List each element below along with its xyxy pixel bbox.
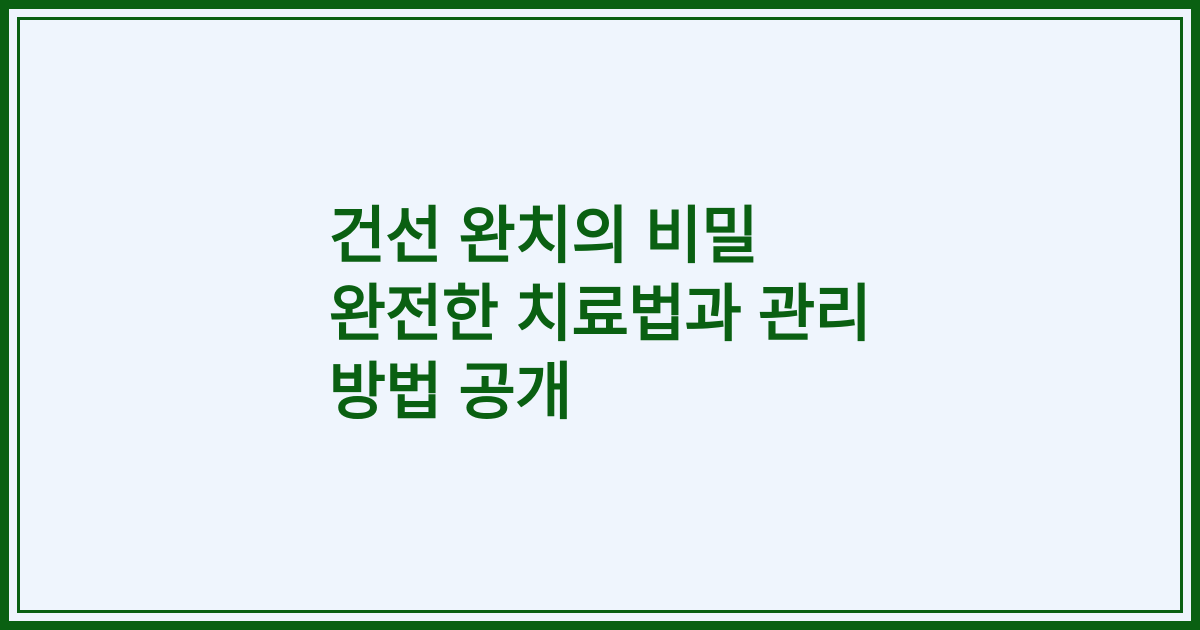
title-line-2: 완전한 치료법과 관리 — [329, 276, 871, 354]
title-block: 건선 완치의 비밀 완전한 치료법과 관리 방법 공개 — [329, 198, 871, 432]
thumbnail-card: 건선 완치의 비밀 완전한 치료법과 관리 방법 공개 — [0, 0, 1200, 630]
title-line-1: 건선 완치의 비밀 — [329, 198, 758, 276]
title-line-3: 방법 공개 — [329, 354, 572, 432]
